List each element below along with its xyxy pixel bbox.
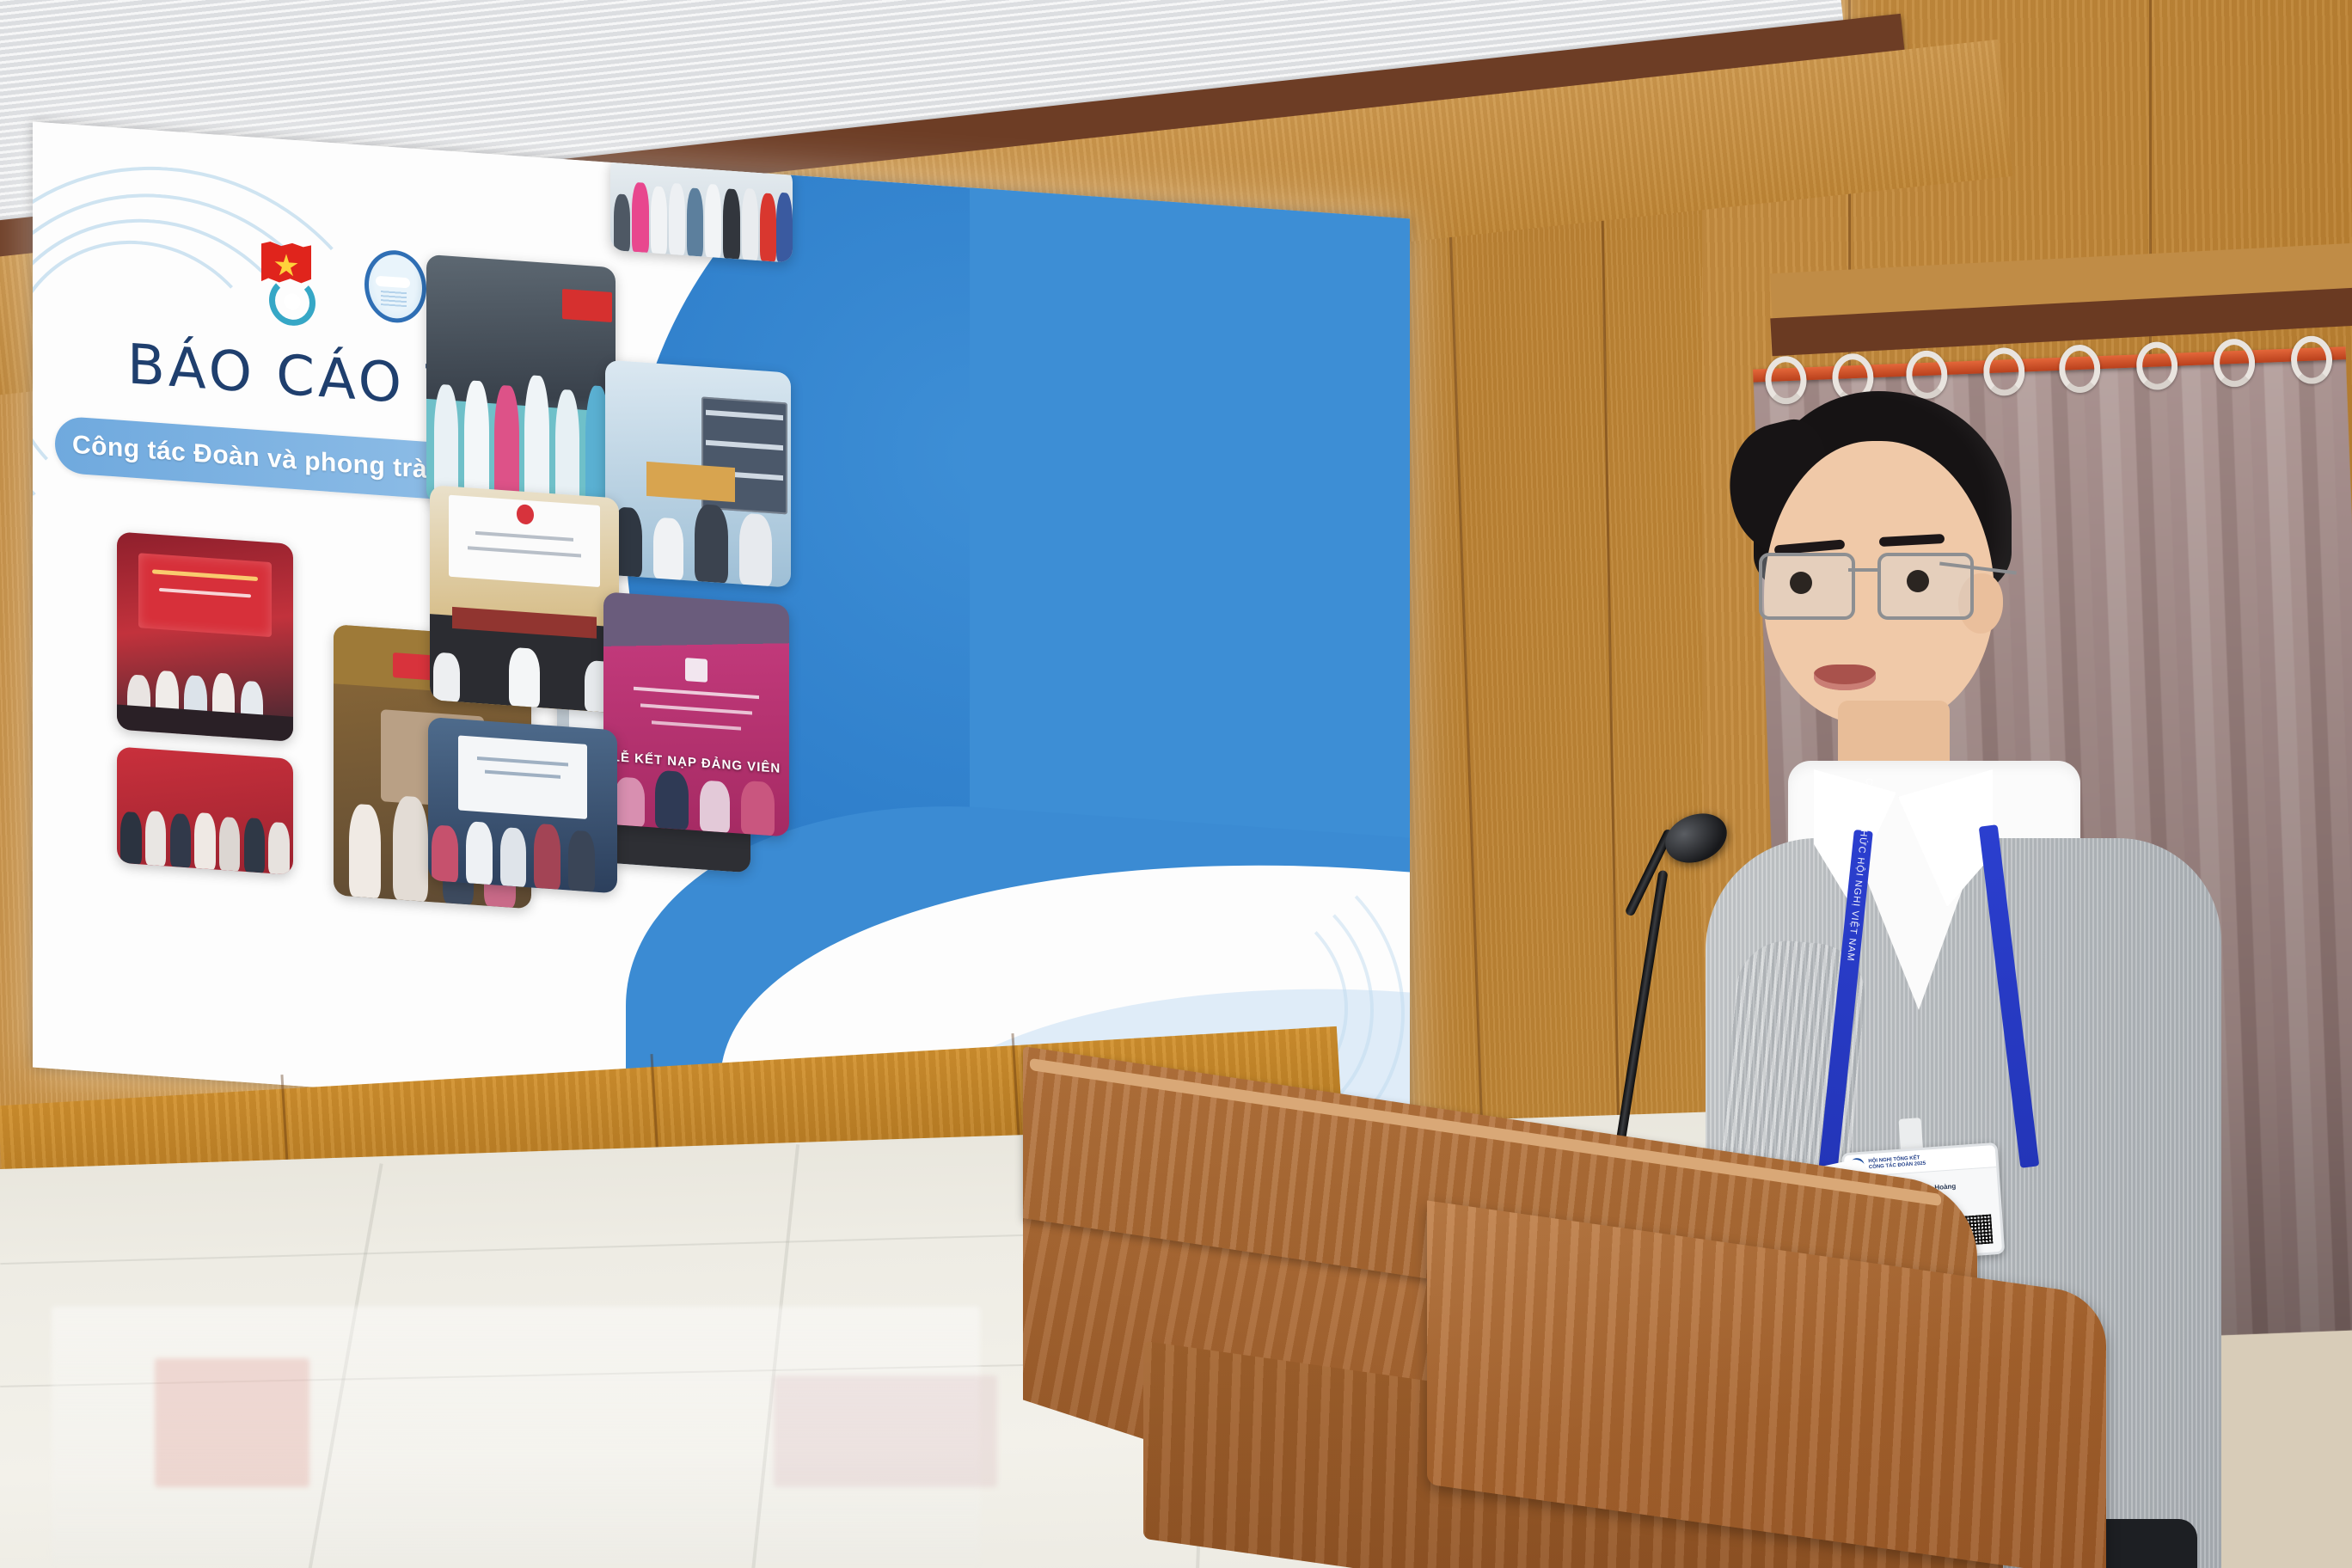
slide-photo-sports-team [426,254,616,518]
slide-logos [258,241,426,325]
slide-photo-party-admission: LỄ KẾT NẠP ĐẢNG VIÊN [603,591,789,836]
slide-photo-conference [430,485,619,714]
institution-circle-icon [364,248,426,325]
floor-reflection [774,1375,997,1487]
eyeglasses [1759,553,1996,615]
mouth [1814,665,1876,690]
slide: BÁO CÁO TỔNG KẾT Công tác Đoàn và phong … [33,122,1410,1165]
slide-photo-group-red [117,746,293,874]
speaker-podium [1023,1118,2106,1568]
youth-union-flag-icon [258,241,315,317]
slide-photo-library [605,359,791,587]
floor-reflection [155,1358,309,1487]
conference-hall-photo: BÁO CÁO TỔNG KẾT Công tác Đoàn và phong … [0,0,2352,1568]
slide-photo-seminar [428,717,617,894]
projection-screen: BÁO CÁO TỔNG KẾT Công tác Đoàn và phong … [33,122,1410,1165]
slide-photo-ceremony [117,531,293,741]
